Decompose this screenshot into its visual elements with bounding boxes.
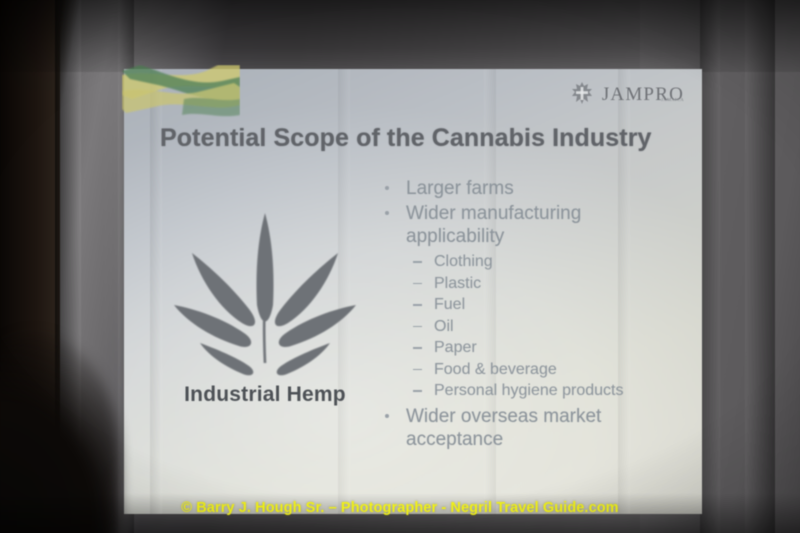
sub-bullet-item: Food & beverage (377, 359, 677, 381)
bullet-item: Larger farms (377, 177, 677, 200)
dash-marker-icon (413, 326, 422, 328)
sub-bullet-text: Oil (434, 318, 454, 335)
sub-bullet-item: Plastic (377, 273, 677, 295)
bullet-item: Wider manufacturing applicability (377, 202, 677, 248)
bullet-text: Wider overseas market acceptance (406, 406, 601, 450)
industrial-hemp-graphic: Industrial Hemp (150, 209, 380, 407)
jampro-crest-icon (570, 81, 594, 107)
projected-slide: JAMPRO JAMAICA Potential Scope of the Ca… (124, 69, 702, 514)
dash-marker-icon (413, 390, 422, 392)
bullet-item: Wider overseas market acceptance (377, 405, 677, 451)
dash-marker-icon (413, 304, 422, 306)
sub-bullet-text: Clothing (434, 253, 493, 270)
slide-title: Potential Scope of the Cannabis Industry (160, 124, 652, 153)
dash-marker-icon (413, 283, 422, 285)
industrial-hemp-caption: Industrial Hemp (150, 383, 380, 407)
sub-bullet-item: Personal hygiene products (377, 380, 677, 402)
bullet-dot-icon (385, 186, 389, 190)
jampro-logo: JAMPRO JAMAICA (570, 81, 684, 107)
top-shadow (0, 0, 800, 72)
jampro-tagline: JAMAICA (661, 97, 684, 102)
cannabis-leaf-icon (170, 209, 360, 379)
sub-bullet-text: Food & beverage (434, 361, 557, 378)
bullet-dot-icon (385, 211, 389, 215)
photographer-watermark: © Barry J. Hough Sr. – Photographer - Ne… (0, 500, 800, 516)
dash-marker-icon (413, 261, 422, 263)
bullet-text: Larger farms (406, 178, 514, 199)
sub-bullet-item: Fuel (377, 294, 677, 316)
sub-bullet-text: Fuel (434, 296, 465, 313)
sub-bullet-item: Clothing (377, 251, 677, 273)
jamaica-flag-icon (122, 65, 240, 121)
sub-bullet-item: Oil (377, 316, 677, 338)
bullet-text: Wider manufacturing applicability (406, 203, 581, 247)
slide-bullet-list: Larger farms Wider manufacturing applica… (377, 177, 677, 453)
sub-bullet-item: Paper (377, 337, 677, 359)
sub-bullet-list: Clothing Plastic Fuel Oil (377, 251, 677, 402)
bullet-dot-icon (385, 414, 389, 418)
dash-marker-icon (413, 347, 422, 349)
sub-bullet-text: Paper (434, 339, 477, 356)
sub-bullet-text: Personal hygiene products (434, 382, 623, 399)
sub-bullet-text: Plastic (434, 275, 481, 292)
photograph-of-projected-slide: JAMPRO JAMAICA Potential Scope of the Ca… (0, 0, 800, 533)
dash-marker-icon (413, 369, 422, 371)
